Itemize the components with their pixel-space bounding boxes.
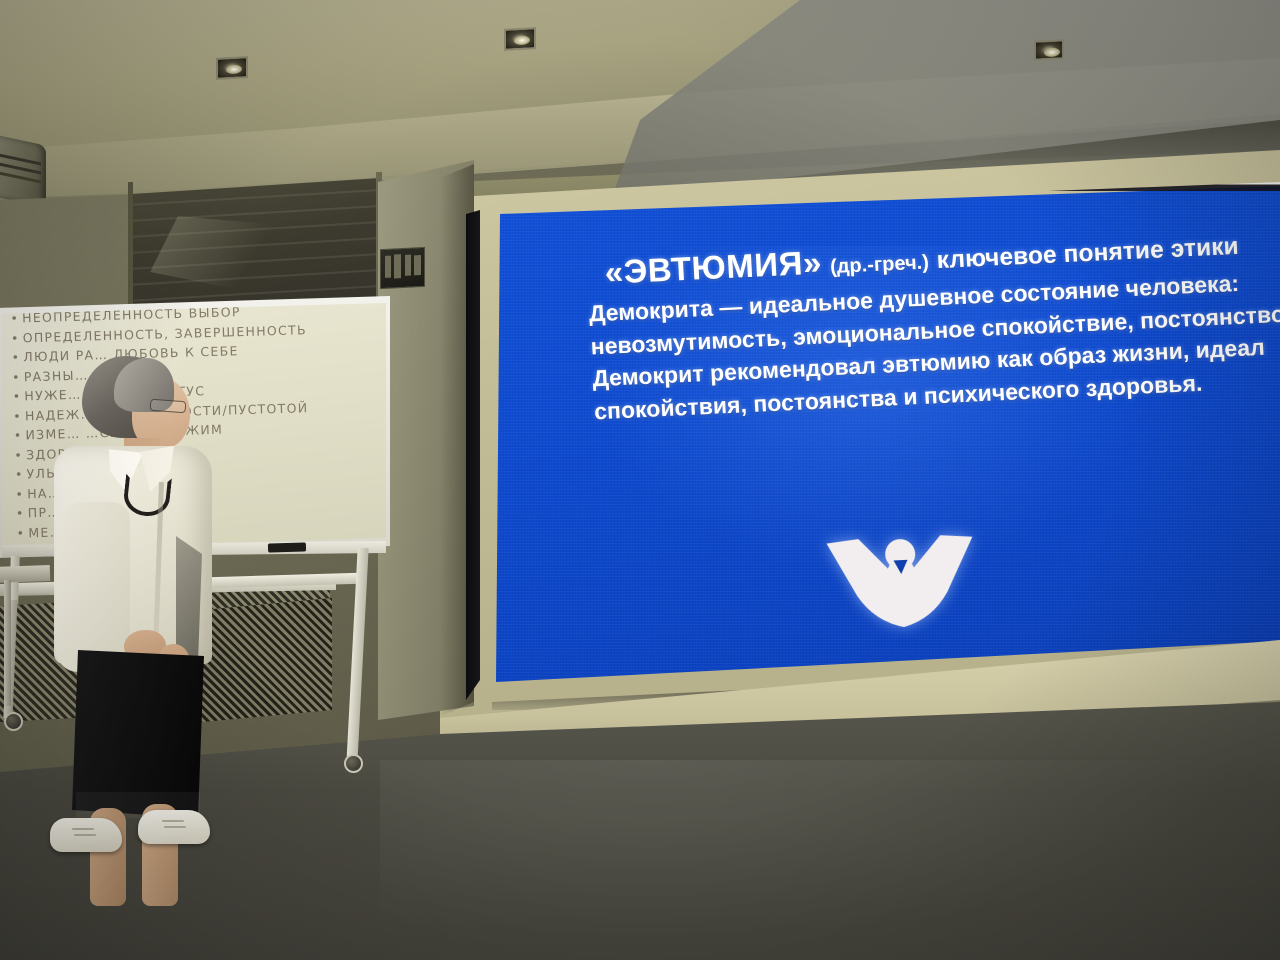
ceiling-spotlight-icon xyxy=(504,27,536,51)
presenter xyxy=(28,352,238,872)
slide-text-block: «ЭВТЮМИЯ» (др.-греч.) ключевое понятие э… xyxy=(586,223,1265,428)
caster-wheel-icon xyxy=(344,754,363,773)
floor-sheen xyxy=(380,760,1280,960)
presenter-folder xyxy=(176,536,202,662)
side-cart-leg xyxy=(4,580,11,706)
screen-bezel-left xyxy=(466,210,480,700)
dove-logo xyxy=(824,521,980,636)
presenter-arm xyxy=(56,502,130,672)
slide-term: «ЭВТЮМИЯ» xyxy=(604,244,823,291)
glasses-icon xyxy=(150,399,187,413)
ceiling-spotlight-icon xyxy=(1034,39,1064,61)
presenter-shoe xyxy=(138,810,210,844)
lecture-hall-scene: «ЭВТЮМИЯ» (др.-греч.) ключевое понятие э… xyxy=(0,0,1280,960)
caster-wheel-icon xyxy=(4,712,23,731)
presenter-shoe xyxy=(50,818,122,852)
window-frame-left xyxy=(128,182,133,322)
slide-body: Демокрита — идеальное душевное состояние… xyxy=(588,266,1264,428)
presentation-slide: «ЭВТЮМИЯ» (др.-греч.) ключевое понятие э… xyxy=(470,148,1280,706)
whiteboard-eraser[interactable] xyxy=(268,542,306,552)
wall-av-panel-icon xyxy=(380,247,425,289)
led-screen[interactable]: «ЭВТЮМИЯ» (др.-греч.) ключевое понятие э… xyxy=(470,186,1280,706)
air-conditioner-icon xyxy=(0,134,46,207)
slide-origin-note: (др.-греч.) xyxy=(830,251,930,278)
ceiling-spotlight-icon xyxy=(216,56,248,80)
